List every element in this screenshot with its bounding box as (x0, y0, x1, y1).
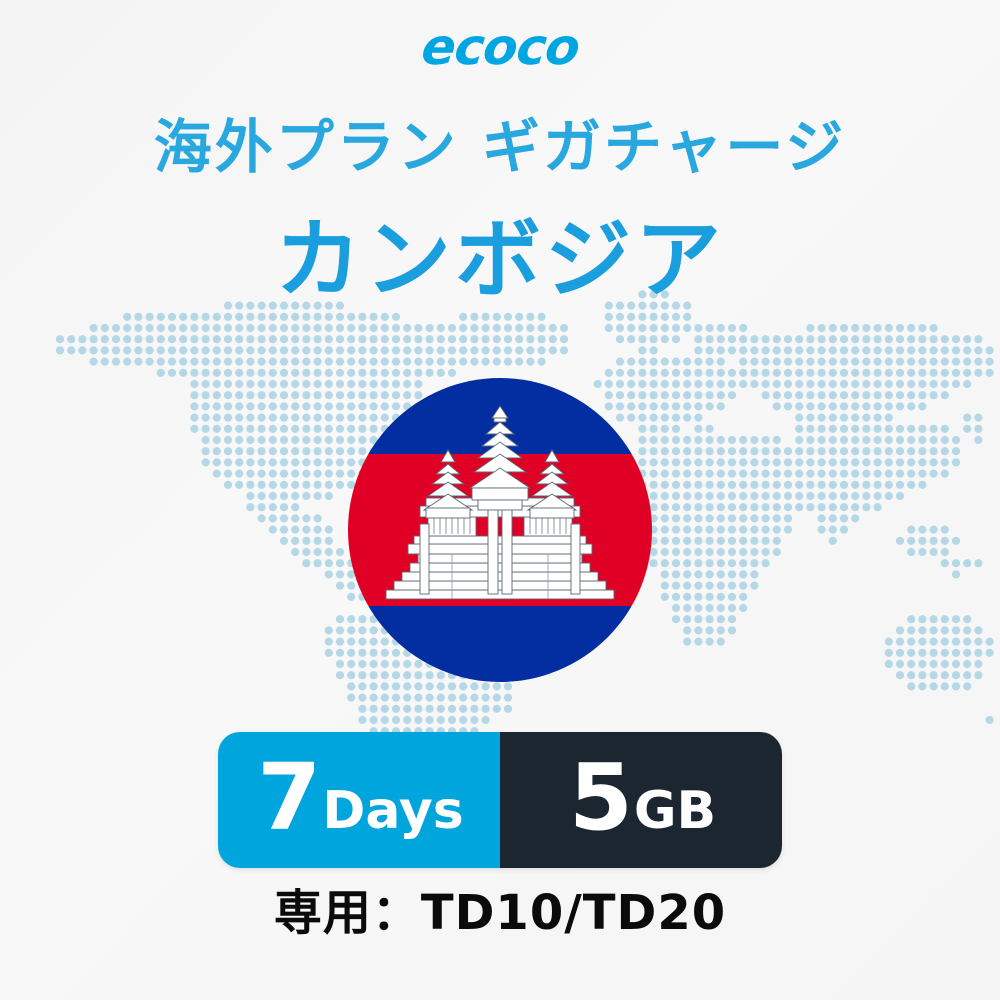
badge-data-volume: 5 GB (500, 732, 782, 868)
plan-badge: 7 Days 5 GB (218, 732, 782, 868)
data-unit: GB (634, 785, 716, 837)
page-title-country: カンボジア (0, 210, 1000, 310)
data-value: 5 (569, 752, 631, 844)
cambodia-flag-circle-icon (348, 378, 652, 682)
plan-subtitle: 海外プラン ギガチャージ (0, 112, 1000, 182)
duration-unit: Days (322, 785, 464, 837)
duration-value: 7 (257, 752, 319, 844)
brand-logo-text: ecoco (419, 22, 581, 72)
device-compatibility-note: 専用：TD10/TD20 (0, 884, 1000, 942)
brand-logo: ecoco (0, 22, 1000, 72)
product-banner: ecoco 海外プラン ギガチャージ カンボジア (0, 0, 1000, 1000)
badge-duration: 7 Days (218, 732, 500, 868)
